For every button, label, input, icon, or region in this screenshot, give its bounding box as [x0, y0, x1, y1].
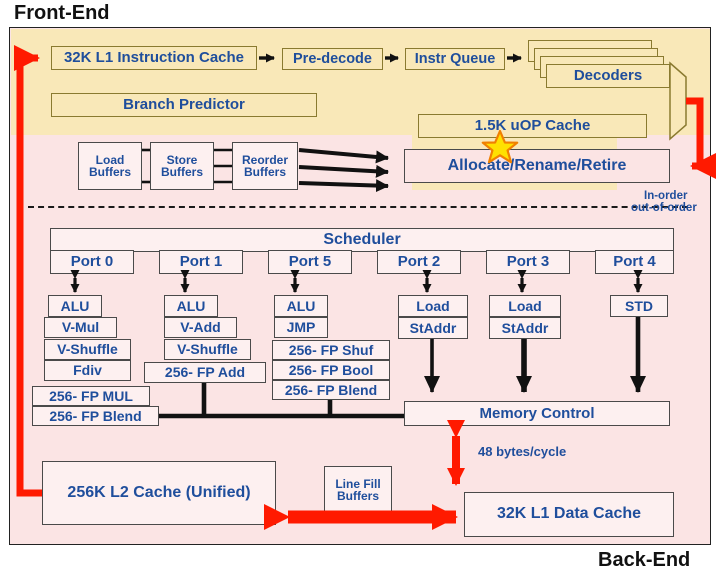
port-3-unit-staddr: StAddr — [489, 317, 561, 339]
allocate-rename-retire-box: Allocate/Rename/Retire — [404, 149, 670, 183]
port-5-unit-256-fp-bool: 256- FP Bool — [272, 360, 390, 380]
port-5-unit-256-fp-shuf: 256- FP Shuf — [272, 340, 390, 360]
front-end-label: Front-End — [14, 2, 110, 25]
bandwidth-note: 48 bytes/cycle — [478, 444, 566, 459]
line-fill-buffers-box: Line Fill Buffers — [324, 466, 392, 514]
store-buffers-box: Store Buffers — [150, 142, 214, 190]
branch-predictor-box: Branch Predictor — [51, 93, 317, 117]
order-divider — [28, 206, 688, 208]
reorder-buffers-box: Reorder Buffers — [232, 142, 298, 190]
memory-control-box: Memory Control — [404, 401, 670, 426]
port-1-unit-alu: ALU — [164, 295, 218, 317]
port-5-unit-256-fp-blend: 256- FP Blend — [272, 380, 390, 400]
in-order-label: In-order — [644, 190, 687, 202]
port-1-box: Port 1 — [159, 250, 243, 274]
port-0-unit-v-mul: V-Mul — [44, 317, 117, 338]
port-0-box: Port 0 — [50, 250, 134, 274]
port-5-box: Port 5 — [268, 250, 352, 274]
port-5-unit-jmp: JMP — [274, 317, 328, 338]
port-2-unit-staddr: StAddr — [398, 317, 468, 339]
port-3-box: Port 3 — [486, 250, 570, 274]
port-2-box: Port 2 — [377, 250, 461, 274]
port-1-unit-256-fp-add: 256- FP Add — [144, 362, 266, 383]
port-3-unit-load: Load — [489, 295, 561, 317]
scheduler-box: Scheduler — [50, 228, 674, 252]
back-end-label: Back-End — [598, 549, 690, 572]
port-0-unit-alu: ALU — [48, 295, 102, 317]
uop-cache-box: 1.5K uOP Cache — [418, 114, 647, 138]
out-of-order-label: out-of-order — [631, 202, 697, 214]
port-1-unit-v-add: V-Add — [164, 317, 237, 338]
load-buffers-line2: Buffers — [89, 166, 131, 178]
port-0-unit-256-fp-blend: 256- FP Blend — [32, 406, 159, 426]
line-fill-buffers-line2: Buffers — [337, 490, 379, 502]
port-0-unit-256-fp-mul: 256- FP MUL — [32, 386, 150, 406]
port-5-unit-alu: ALU — [274, 295, 328, 317]
port-4-unit-std: STD — [610, 295, 668, 317]
port-0-unit-v-shuffle: V-Shuffle — [44, 339, 131, 360]
port-4-box: Port 4 — [595, 250, 674, 274]
instr-queue-box: Instr Queue — [405, 48, 505, 70]
port-1-unit-v-shuffle: V-Shuffle — [164, 339, 251, 360]
pre-decode-box: Pre-decode — [282, 48, 383, 70]
port-2-unit-load: Load — [398, 295, 468, 317]
load-buffers-box: Load Buffers — [78, 142, 142, 190]
l1-data-cache-box: 32K L1 Data Cache — [464, 492, 674, 537]
l1-instruction-cache-box: 32K L1 Instruction Cache — [51, 46, 257, 70]
cpu-microarchitecture-diagram: Front-End Back-End 32K L1 Instruction Ca… — [0, 0, 720, 580]
decoder-box-1: Decoders — [546, 64, 670, 88]
port-0-unit-fdiv: Fdiv — [44, 360, 131, 381]
l2-cache-box: 256K L2 Cache (Unified) — [42, 461, 276, 525]
reorder-buffers-line2: Buffers — [244, 166, 286, 178]
store-buffers-line2: Buffers — [161, 166, 203, 178]
